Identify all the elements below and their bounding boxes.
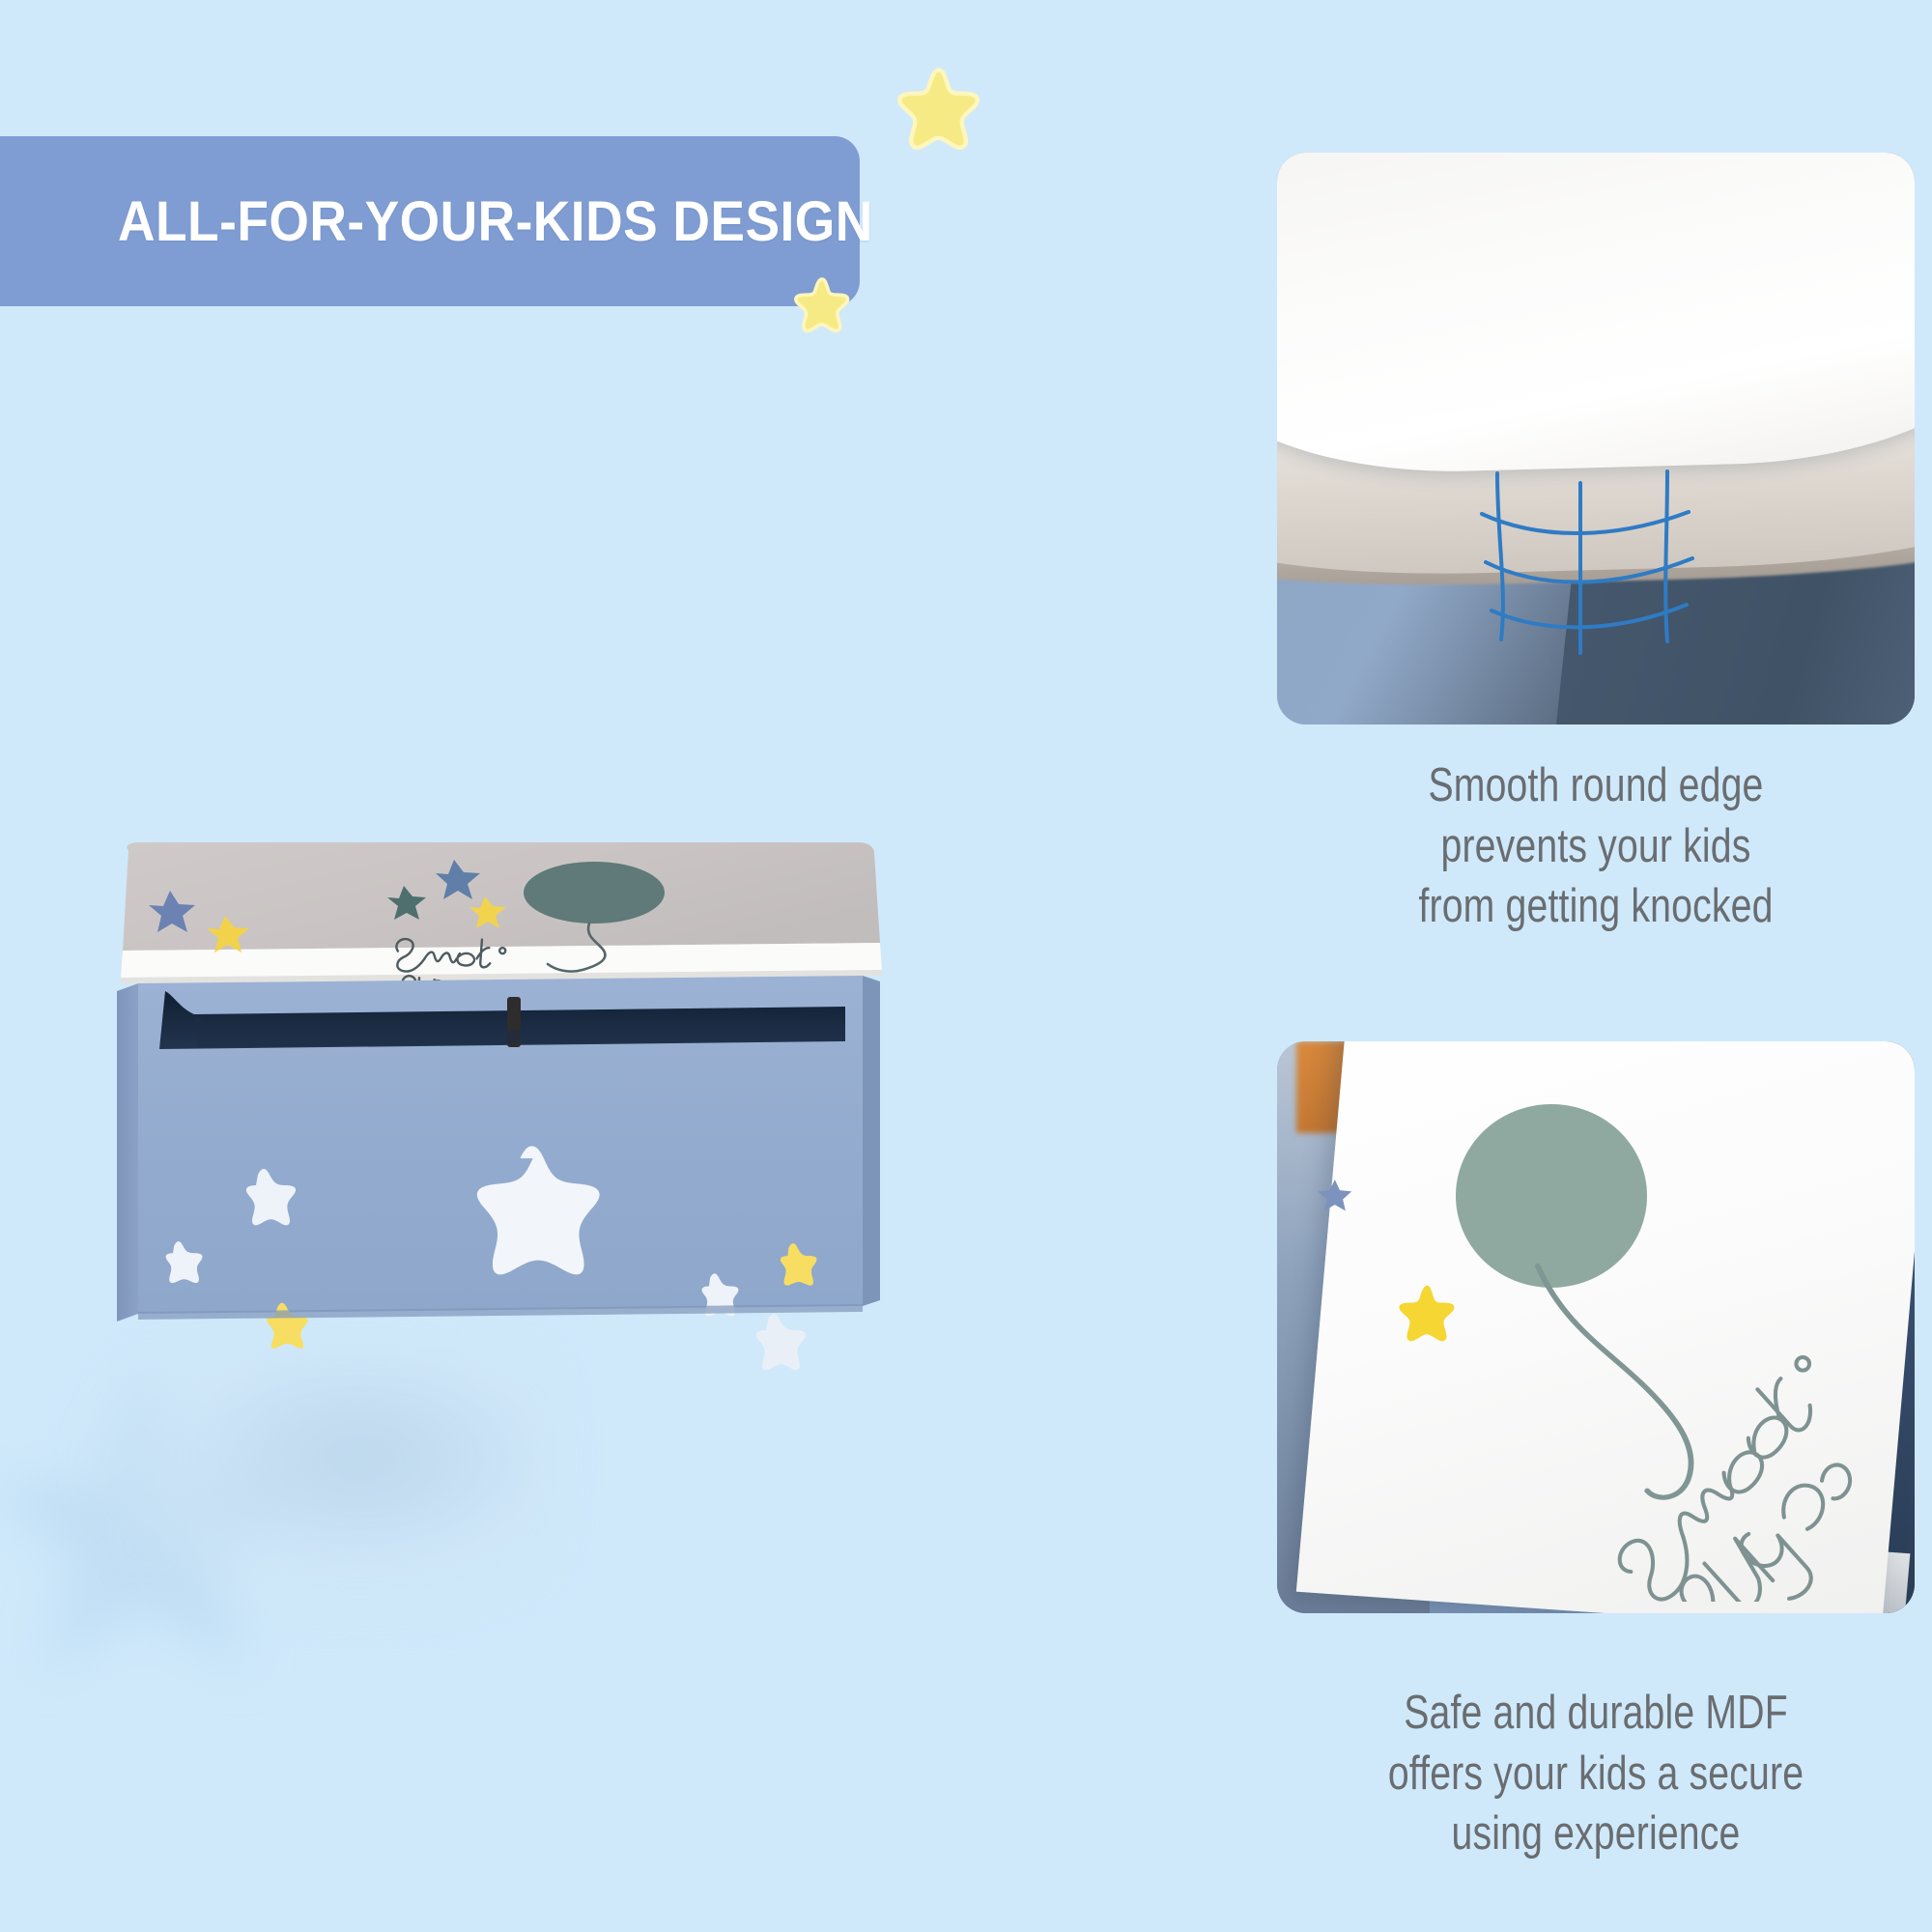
feature-photo-safe-durable-mdf	[1277, 1041, 1915, 1613]
headline-banner: ALL-FOR-YOUR-KIDS DESIGN	[0, 136, 860, 306]
caption-line: prevents your kids	[1341, 816, 1851, 877]
caption-smooth-round-edge: Smooth round edge prevents your kids fro…	[1341, 755, 1851, 937]
page-title: ALL-FOR-YOUR-KIDS DESIGN	[118, 189, 873, 254]
caption-line: Safe and durable MDF	[1341, 1683, 1851, 1744]
sweet-hugs-script	[1557, 1339, 1901, 1602]
caption-safe-durable-mdf: Safe and durable MDF offers your kids a …	[1341, 1683, 1851, 1864]
product-photo-toy-box	[101, 850, 903, 1449]
feature-photo-smooth-round-edge	[1277, 153, 1915, 724]
caption-line: offers your kids a secure	[1341, 1744, 1851, 1804]
yellow-star-icon	[1392, 1282, 1463, 1345]
caption-line: from getting knocked	[1341, 876, 1851, 937]
star-icon	[895, 66, 983, 153]
marketing-image-canvas: ALL-FOR-YOUR-KIDS DESIGN	[0, 0, 1932, 1932]
lid-balloon	[524, 862, 665, 923]
caption-line: using experience	[1341, 1804, 1851, 1864]
grid-overlay-icon	[1277, 153, 1915, 724]
star-icon	[792, 276, 852, 334]
caption-line: Smooth round edge	[1341, 755, 1851, 816]
blue-star-icon	[1316, 1173, 1354, 1218]
